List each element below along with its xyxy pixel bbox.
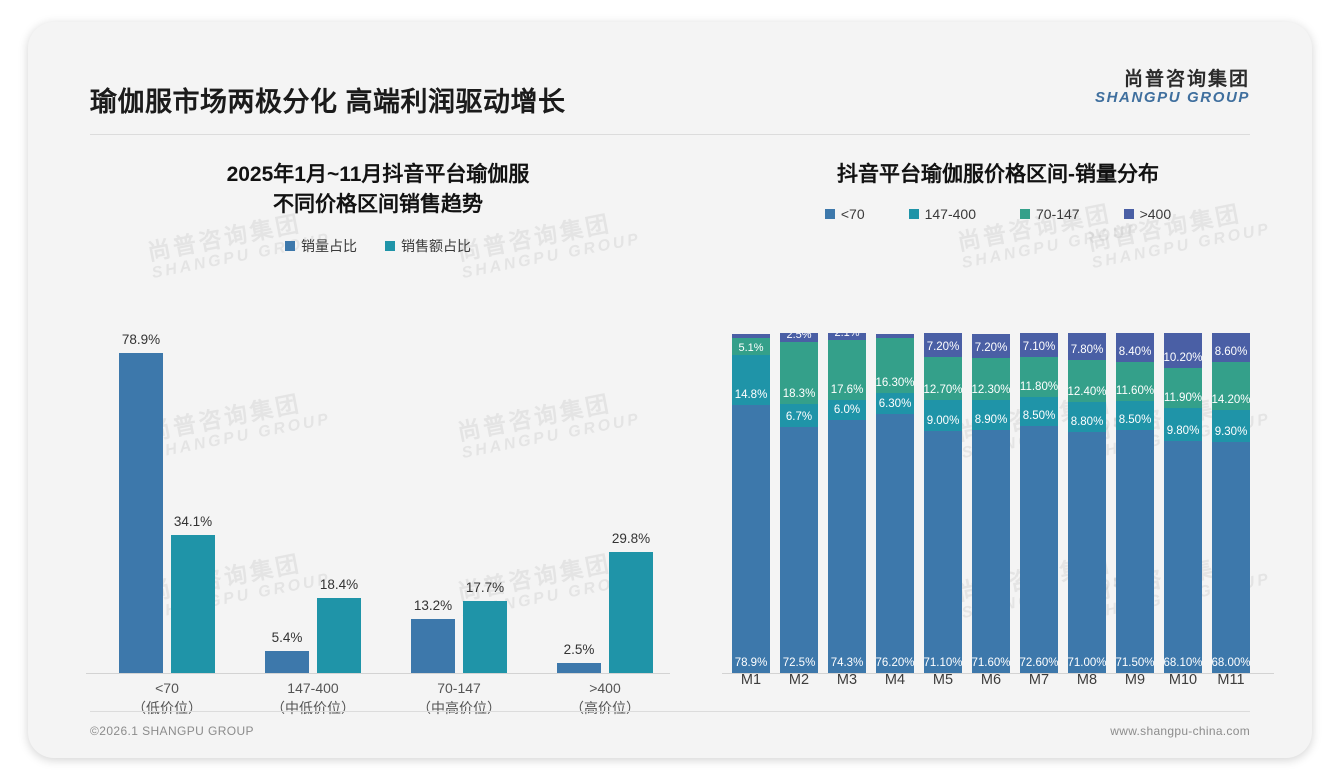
- stack-segment->400: 2.1%: [828, 333, 866, 340]
- footer-divider: [90, 711, 1250, 712]
- stack-segment-147-400: 6.30%: [876, 393, 914, 414]
- stack-segment-147-400: 8.50%: [1116, 401, 1154, 430]
- stack-segment-<70: 72.5%: [780, 427, 818, 673]
- category-label-sub: （高价位）: [532, 698, 678, 718]
- stack-segment->400: 8.40%: [1116, 333, 1154, 362]
- stack-segment-label: 12.40%: [1068, 386, 1106, 398]
- bar-value-label: 5.4%: [272, 630, 303, 645]
- stacked-bar-M9[interactable]: 8.40%11.60%8.50%71.50%: [1116, 333, 1154, 673]
- stack-segment-label: 72.5%: [783, 657, 816, 669]
- stack-segment-70-147: 11.60%: [1116, 362, 1154, 401]
- stack-segment-label: 71.00%: [1068, 657, 1106, 669]
- stack-segment-label: 7.10%: [1023, 341, 1056, 353]
- slide-root: 瑜伽服市场两极分化 高端利润驱动增长 尚普咨询集团 SHANGPU GROUP …: [0, 0, 1340, 780]
- stack-segment-<70: 71.60%: [972, 430, 1010, 673]
- legend-swatch-icon: [385, 241, 395, 251]
- header-divider: [90, 134, 1250, 135]
- stack-segment->400: 7.10%: [1020, 333, 1058, 357]
- category-label->400: >400（高价位）: [532, 678, 678, 719]
- stacked-bar-M6[interactable]: 7.20%12.30%8.90%71.60%: [972, 333, 1010, 673]
- month-label-M5: M5: [921, 672, 965, 688]
- stack-segment->400: 2.5%: [780, 333, 818, 342]
- bar-销量占比-<70[interactable]: 78.9%: [119, 328, 163, 673]
- category-label-main: 70-147: [386, 678, 532, 698]
- bar-value-label: 29.8%: [612, 531, 650, 546]
- stack-segment->400: 10.20%: [1164, 333, 1202, 368]
- slide-header: 瑜伽服市场两极分化 高端利润驱动增长 尚普咨询集团 SHANGPU GROUP: [28, 22, 1312, 114]
- bar-group-147-400: 5.4%18.4%: [240, 328, 386, 673]
- stack-segment-147-400: 6.7%: [780, 404, 818, 427]
- stack-segment-label: 9.00%: [927, 415, 960, 427]
- logo-chinese-text: 尚普咨询集团: [1095, 70, 1250, 90]
- stack-segment-label: 7.20%: [975, 342, 1008, 354]
- stack-segment-label: 1.2%: [738, 334, 763, 337]
- stack-segment-147-400: 14.8%: [732, 355, 770, 405]
- left-chart-panel: 2025年1月~11月抖音平台瑜伽服 不同价格区间销售趋势 销量占比销售额占比 …: [68, 148, 688, 708]
- right-chart-title: 抖音平台瑜伽服价格区间-销量分布: [708, 160, 1288, 190]
- month-label-M8: M8: [1065, 672, 1109, 688]
- stack-segment-label: 8.80%: [1071, 416, 1104, 428]
- month-label-M1: M1: [729, 672, 773, 688]
- category-label-<70: <70（低价位）: [94, 678, 240, 719]
- left-chart-plot: 78.9%34.1%<70（低价位）5.4%18.4%147-400（中低价位）…: [86, 314, 670, 674]
- bar-销量占比->400[interactable]: 2.5%: [557, 328, 601, 673]
- right-chart-panel: 抖音平台瑜伽服价格区间-销量分布 <70147-40070-147>400 1.…: [708, 148, 1288, 708]
- legend-item-3[interactable]: 70-147: [1020, 206, 1080, 222]
- stack-segment-label: 8.50%: [1023, 410, 1056, 422]
- month-label-M3: M3: [825, 672, 869, 688]
- bar-value-label: 18.4%: [320, 577, 358, 592]
- stack-segment-label: 10.20%: [1164, 352, 1202, 364]
- stack-segment-label: 71.60%: [972, 657, 1010, 669]
- stacked-bar-M3[interactable]: 2.1%17.6%6.0%74.3%: [828, 333, 866, 673]
- bar-rect: [609, 552, 653, 673]
- legend-item-4[interactable]: >400: [1124, 206, 1172, 222]
- stack-segment-label: 11.90%: [1164, 392, 1202, 404]
- bar-rect: [265, 651, 309, 673]
- stack-segment-70-147: 14.20%: [1212, 362, 1250, 410]
- bar-rect: [557, 663, 601, 673]
- bar-group->400: 2.5%29.8%: [532, 328, 678, 673]
- stack-segment-label: 12.30%: [972, 384, 1010, 396]
- stack-segment-147-400: 9.00%: [924, 400, 962, 431]
- left-chart-legend: 销量占比销售额占比: [68, 236, 688, 256]
- stack-segment->400: 8.60%: [1212, 333, 1250, 362]
- bar-销售额占比-<70[interactable]: 34.1%: [171, 328, 215, 673]
- footer-website: www.shangpu-china.com: [1110, 724, 1250, 738]
- stack-segment-70-147: 11.80%: [1020, 357, 1058, 397]
- brand-logo: 尚普咨询集团 SHANGPU GROUP: [1095, 70, 1250, 106]
- left-chart-title: 2025年1月~11月抖音平台瑜伽服 不同价格区间销售趋势: [68, 160, 688, 220]
- legend-item-2[interactable]: 147-400: [909, 206, 976, 222]
- legend-label: <70: [841, 206, 865, 222]
- stack-segment-label: 14.20%: [1212, 394, 1250, 406]
- stack-segment-label: 17.6%: [831, 384, 864, 396]
- month-label-M7: M7: [1017, 672, 1061, 688]
- stack-segment-label: 7.20%: [927, 341, 960, 353]
- right-chart-plot: 1.2%5.1%14.8%78.9%M12.5%18.3%6.7%72.5%M2…: [722, 314, 1274, 674]
- stacked-bar-M8[interactable]: 7.80%12.40%8.80%71.00%: [1068, 333, 1106, 673]
- stack-segment-<70: 72.60%: [1020, 426, 1058, 673]
- bar-销售额占比-147-400[interactable]: 18.4%: [317, 328, 361, 673]
- stacked-bar-M1[interactable]: 1.2%5.1%14.8%78.9%: [732, 333, 770, 673]
- stack-segment-label: 7.80%: [1071, 344, 1104, 356]
- legend-label: 销售额占比: [401, 236, 471, 256]
- month-label-M10: M10: [1161, 672, 1205, 688]
- bar-销量占比-147-400[interactable]: 5.4%: [265, 328, 309, 673]
- right-chart-title-line1: 抖音平台瑜伽服价格区间-销量分布: [837, 163, 1159, 186]
- stack-segment-147-400: 8.80%: [1068, 402, 1106, 432]
- stack-segment-<70: 78.9%: [732, 405, 770, 673]
- stack-segment-label: 8.40%: [1119, 346, 1152, 358]
- stack-segment-<70: 68.10%: [1164, 441, 1202, 673]
- stack-segment-label: 6.30%: [879, 398, 912, 410]
- legend-item-2[interactable]: 销售额占比: [385, 236, 471, 256]
- stack-segment-label: 68.00%: [1212, 657, 1250, 669]
- month-label-M9: M9: [1113, 672, 1157, 688]
- bar-value-label: 78.9%: [122, 332, 160, 347]
- month-label-M6: M6: [969, 672, 1013, 688]
- stack-segment-label: 18.3%: [783, 388, 816, 400]
- stack-segment-label: 8.60%: [1215, 346, 1248, 358]
- stack-segment-70-147: 11.90%: [1164, 368, 1202, 408]
- bar-group-70-147: 13.2%17.7%: [386, 328, 532, 673]
- stack-segment-<70: 74.3%: [828, 420, 866, 673]
- bar-group-<70: 78.9%34.1%: [94, 328, 240, 673]
- stack-segment-<70: 71.00%: [1068, 432, 1106, 673]
- legend-item-1[interactable]: <70: [825, 206, 865, 222]
- bar-rect: [463, 601, 507, 673]
- bar-销售额占比-70-147[interactable]: 17.7%: [463, 328, 507, 673]
- stacked-bar-M11[interactable]: 8.60%14.20%9.30%68.00%: [1212, 333, 1250, 673]
- stack-segment-label: 16.30%: [876, 377, 914, 389]
- category-label-sub: （中低价位）: [240, 698, 386, 718]
- stack-segment-label: 8.50%: [1119, 414, 1152, 426]
- stack-segment-label: 9.30%: [1215, 426, 1248, 438]
- legend-label: 70-147: [1036, 206, 1080, 222]
- stack-segment-label: 11.60%: [1116, 385, 1154, 397]
- footer-copyright: ©2026.1 SHANGPU GROUP: [90, 724, 254, 738]
- bar-rect: [171, 535, 215, 673]
- stack-segment-147-400: 8.50%: [1020, 397, 1058, 426]
- legend-swatch-icon: [1124, 209, 1134, 219]
- legend-label: 销量占比: [301, 236, 357, 256]
- stacked-bar-M4[interactable]: 1.30%16.30%6.30%76.20%: [876, 333, 914, 673]
- stack-segment-label: 9.80%: [1167, 425, 1200, 437]
- stack-segment-label: 2.1%: [834, 333, 859, 339]
- stack-segment-label: 12.70%: [924, 384, 962, 396]
- stack-segment-70-147: 12.40%: [1068, 360, 1106, 402]
- category-label-main: <70: [94, 678, 240, 698]
- stack-segment-label: 1.30%: [879, 334, 910, 337]
- category-label-147-400: 147-400（中低价位）: [240, 678, 386, 719]
- stack-segment-label: 11.80%: [1020, 381, 1058, 393]
- stack-segment-70-147: 17.6%: [828, 340, 866, 400]
- stack-segment-label: 6.0%: [834, 404, 860, 416]
- category-label-70-147: 70-147（中高价位）: [386, 678, 532, 719]
- left-chart-title-line2: 不同价格区间销售趋势: [68, 190, 688, 220]
- bar-value-label: 34.1%: [174, 514, 212, 529]
- stacked-bar-M10[interactable]: 10.20%11.90%9.80%68.10%: [1164, 333, 1202, 673]
- stack-segment-70-147: 5.1%: [732, 338, 770, 355]
- page-title: 瑜伽服市场两极分化 高端利润驱动增长: [90, 80, 566, 119]
- stack-segment-147-400: 9.80%: [1164, 408, 1202, 441]
- logo-english-text: SHANGPU GROUP: [1095, 90, 1250, 106]
- stack-segment->400: 7.20%: [924, 333, 962, 357]
- stacked-bar-M2[interactable]: 2.5%18.3%6.7%72.5%: [780, 333, 818, 673]
- bar-value-label: 2.5%: [564, 642, 595, 657]
- stack-segment-label: 72.60%: [1020, 657, 1058, 669]
- month-label-M11: M11: [1209, 672, 1253, 688]
- stack-segment-label: 5.1%: [738, 342, 763, 354]
- stack-segment-label: 71.50%: [1116, 657, 1154, 669]
- stack-segment-147-400: 6.0%: [828, 400, 866, 420]
- legend-swatch-icon: [825, 209, 835, 219]
- month-label-M4: M4: [873, 672, 917, 688]
- stack-segment-label: 74.3%: [831, 657, 864, 669]
- bar-rect: [411, 619, 455, 673]
- bar-value-label: 13.2%: [414, 598, 452, 613]
- legend-label: >400: [1140, 206, 1172, 222]
- stacked-bar-M7[interactable]: 7.10%11.80%8.50%72.60%: [1020, 333, 1058, 673]
- category-label-sub: （中高价位）: [386, 698, 532, 718]
- category-label-sub: （低价位）: [94, 698, 240, 718]
- legend-label: 147-400: [925, 206, 976, 222]
- stack-segment-label: 6.7%: [786, 411, 812, 423]
- stack-segment-label: 76.20%: [876, 657, 914, 669]
- stack-segment-<70: 76.20%: [876, 414, 914, 673]
- month-label-M2: M2: [777, 672, 821, 688]
- legend-swatch-icon: [285, 241, 295, 251]
- bar-rect: [317, 598, 361, 673]
- stack-segment-147-400: 9.30%: [1212, 410, 1250, 442]
- legend-swatch-icon: [1020, 209, 1030, 219]
- stack-segment-70-147: 16.30%: [876, 338, 914, 393]
- stack-segment->400: 7.80%: [1068, 333, 1106, 360]
- bar-value-label: 17.7%: [466, 580, 504, 595]
- stack-segment-label: 8.90%: [975, 414, 1008, 426]
- category-label-main: >400: [532, 678, 678, 698]
- legend-item-1[interactable]: 销量占比: [285, 236, 357, 256]
- right-chart-legend: <70147-40070-147>400: [708, 206, 1288, 222]
- legend-swatch-icon: [909, 209, 919, 219]
- left-chart-title-line1: 2025年1月~11月抖音平台瑜伽服: [227, 163, 530, 186]
- stack-segment-70-147: 12.70%: [924, 357, 962, 400]
- stack-segment->400: 7.20%: [972, 334, 1010, 358]
- stack-segment-<70: 71.50%: [1116, 430, 1154, 673]
- stack-segment-label: 71.10%: [924, 657, 962, 669]
- stack-segment-label: 2.5%: [786, 333, 811, 341]
- bar-销售额占比->400[interactable]: 29.8%: [609, 328, 653, 673]
- left-chart-axis: [86, 673, 670, 674]
- bar-销量占比-70-147[interactable]: 13.2%: [411, 328, 455, 673]
- bar-rect: [119, 353, 163, 673]
- stack-segment-<70: 71.10%: [924, 431, 962, 673]
- stack-segment-label: 68.10%: [1164, 657, 1202, 669]
- stack-segment-70-147: 12.30%: [972, 358, 1010, 400]
- stack-segment-<70: 68.00%: [1212, 442, 1250, 673]
- slide-card: 瑜伽服市场两极分化 高端利润驱动增长 尚普咨询集团 SHANGPU GROUP …: [28, 22, 1312, 758]
- category-label-main: 147-400: [240, 678, 386, 698]
- stack-segment-label: 78.9%: [735, 657, 768, 669]
- stack-segment-label: 14.8%: [735, 389, 768, 401]
- stacked-bar-M5[interactable]: 7.20%12.70%9.00%71.10%: [924, 333, 962, 673]
- stack-segment-147-400: 8.90%: [972, 400, 1010, 430]
- stack-segment-70-147: 18.3%: [780, 342, 818, 404]
